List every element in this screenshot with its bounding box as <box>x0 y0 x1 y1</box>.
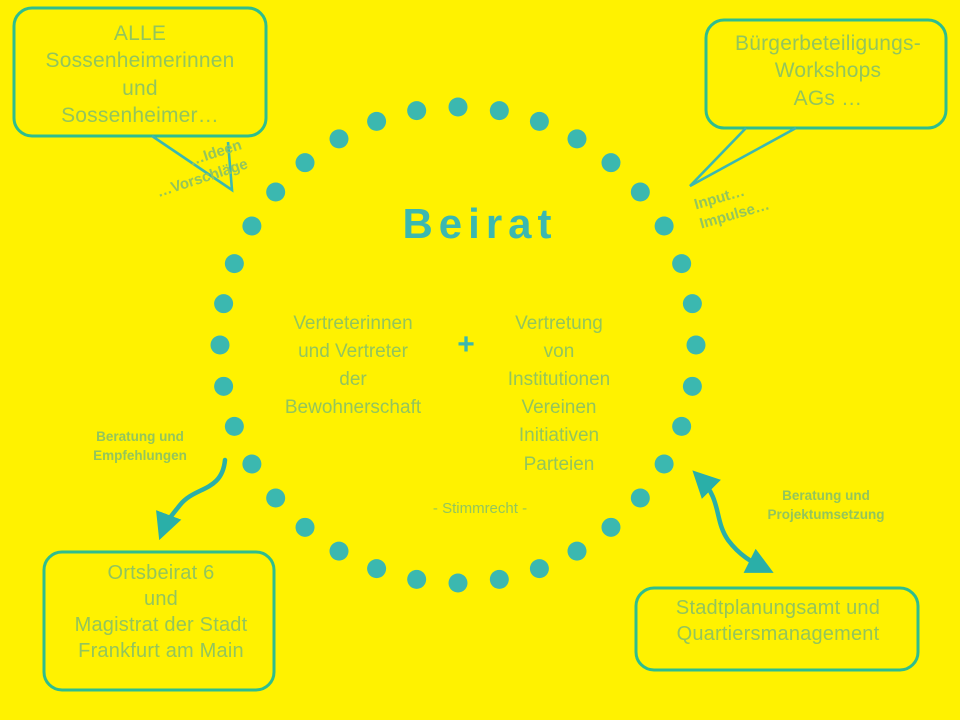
circle-dot <box>601 518 620 537</box>
circle-dot <box>214 294 233 313</box>
circle-dot <box>490 101 509 120</box>
circle-dot <box>687 336 706 355</box>
voting-rights-footnote: - Stimmrecht - <box>360 500 600 517</box>
circle-dot <box>407 570 426 589</box>
circle-dot <box>672 417 691 436</box>
circle-dot <box>266 183 285 202</box>
label-beratung-projektumsetzung: Beratung und Projektumsetzung <box>744 487 908 524</box>
circle-dot <box>296 518 315 537</box>
circle-dot <box>242 217 261 236</box>
speech-bubble-top-left-label: ALLE Sossenheimerinnen und Sossenheimer… <box>20 20 260 129</box>
box-bottom-right-label: Stadtplanungsamt und Quartiersmanagement <box>642 595 914 647</box>
circle-dot <box>530 112 549 131</box>
circle-dot <box>655 217 674 236</box>
label-beratung-empfehlungen: Beratung und Empfehlungen <box>72 428 208 465</box>
diagram-title: Beirat <box>330 200 630 248</box>
circle-dot <box>490 570 509 589</box>
circle-dot <box>631 183 650 202</box>
label-input-impulse: Input… Impulse… <box>692 163 819 235</box>
circle-dot <box>211 336 230 355</box>
circle-dot <box>631 488 650 507</box>
center-column-residents: Vertreterinnen und Vertreter der Bewohne… <box>268 310 438 422</box>
circle-dot <box>367 559 386 578</box>
diagram-canvas: ALLE Sossenheimerinnen und Sossenheimer…… <box>0 0 960 720</box>
circle-dot <box>568 542 587 561</box>
circle-dot <box>266 488 285 507</box>
circle-dot <box>568 129 587 148</box>
circle-dot <box>330 129 349 148</box>
circle-dot <box>407 101 426 120</box>
circle-dot <box>242 455 261 474</box>
circle-dot <box>330 542 349 561</box>
circle-dot <box>367 112 386 131</box>
circle-dot <box>225 417 244 436</box>
circle-dot <box>449 574 468 593</box>
center-column-institutions: Vertretung von Institutionen Vereinen In… <box>470 310 648 479</box>
circle-dot <box>601 153 620 172</box>
circle-dot <box>683 377 702 396</box>
circle-dot <box>672 254 691 273</box>
circle-dot <box>296 153 315 172</box>
circle-dot <box>449 98 468 117</box>
arrow-beratung-empfehlungen <box>163 460 225 530</box>
speech-bubble-top-right-label: Bürgerbeteiligungs- Workshops AGs … <box>712 30 944 112</box>
circle-dot <box>214 377 233 396</box>
circle-dot <box>225 254 244 273</box>
circle-dot <box>655 455 674 474</box>
label-ideen-vorschlaege: …Ideen …Vorschläge <box>126 136 251 211</box>
circle-dot <box>683 294 702 313</box>
box-bottom-left-label: Ortsbeirat 6 und Magistrat der Stadt Fra… <box>48 560 274 664</box>
circle-dot <box>530 559 549 578</box>
